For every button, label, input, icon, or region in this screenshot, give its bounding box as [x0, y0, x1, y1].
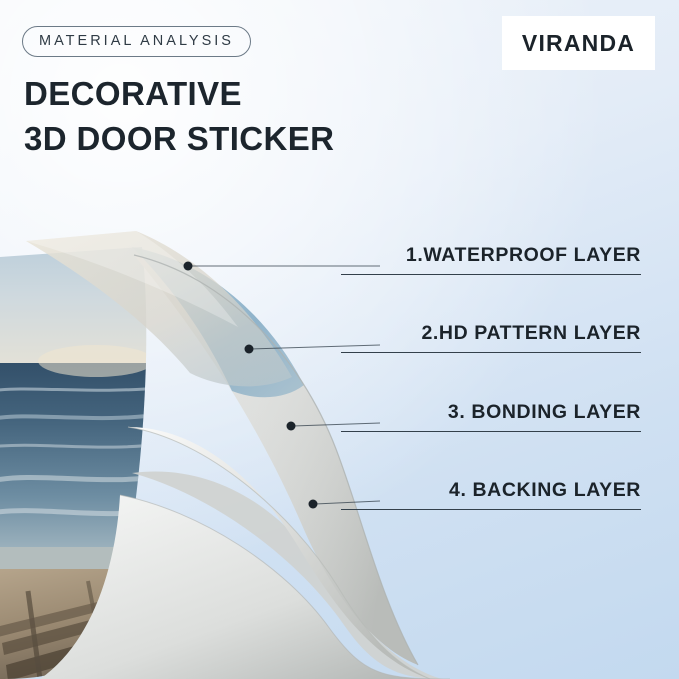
callout-hd-pattern-label: 2.HD PATTERN LAYER: [421, 322, 641, 344]
brand-name: VIRANDA: [522, 30, 635, 57]
callout-rule: [341, 509, 641, 510]
callout-waterproof-layer: 1.WATERPROOF LAYER: [341, 244, 641, 275]
callout-waterproof-label: 1.WATERPROOF LAYER: [406, 244, 641, 266]
title-line-2: 3D DOOR STICKER: [24, 117, 334, 162]
callout-rule: [341, 352, 641, 353]
callout-backing-label: 4. BACKING LAYER: [449, 479, 641, 501]
brand-logo-box: VIRANDA: [502, 16, 655, 70]
callout-rule: [341, 431, 641, 432]
title-line-1: DECORATIVE: [24, 72, 334, 117]
eyebrow-badge: MATERIAL ANALYSIS: [22, 26, 251, 57]
callout-bonding-label: 3. BONDING LAYER: [448, 401, 641, 423]
callout-backing-layer: 4. BACKING LAYER: [341, 479, 641, 510]
callout-hd-pattern-layer: 2.HD PATTERN LAYER: [341, 322, 641, 353]
callout-rule: [341, 274, 641, 275]
poster-canvas: MATERIAL ANALYSIS DECORATIVE 3D DOOR STI…: [0, 0, 679, 679]
callout-bonding-layer: 3. BONDING LAYER: [341, 401, 641, 432]
page-title: DECORATIVE 3D DOOR STICKER: [24, 72, 334, 162]
eyebrow-text: MATERIAL ANALYSIS: [39, 33, 234, 49]
